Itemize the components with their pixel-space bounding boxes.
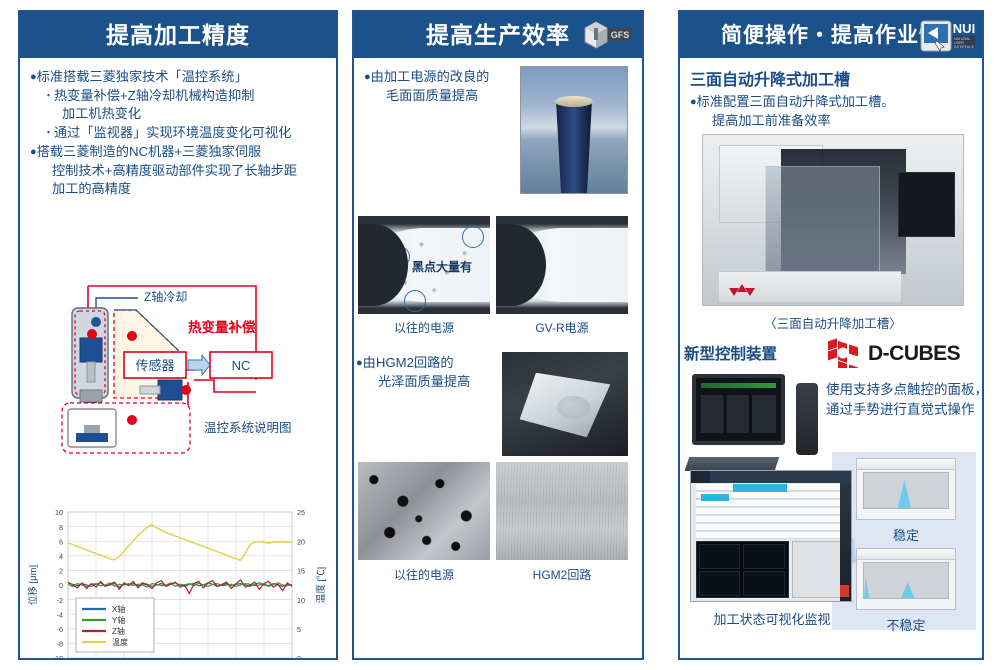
list-item-label: 提高加工前准备效率 <box>712 113 831 128</box>
panel-3-subheading: 三面自动升降式加工槽 <box>690 66 972 90</box>
hmi-camera-quadrant <box>699 571 741 596</box>
console-keyboard[interactable] <box>685 457 779 471</box>
nui-logo-badge: NUI NATURAL USER INTERFACE <box>920 17 976 55</box>
svg-text:25: 25 <box>297 508 305 517</box>
list-item: ●标准搭载三菱独家技术「温控系统」 <box>30 68 326 87</box>
hmi-parameter-rows <box>696 484 846 539</box>
svg-text:INTERFACE: INTERFACE <box>954 45 975 49</box>
svg-text:-8: -8 <box>57 640 63 649</box>
histogram-unstable-bars <box>864 563 948 598</box>
defect-circle-icon <box>462 226 484 248</box>
list-item-label: 由加工电源的改良的 <box>371 69 490 84</box>
bullet-dot-icon: ● <box>690 96 697 108</box>
defect-circle-icon <box>388 246 410 268</box>
hmi-highlight-bar <box>701 494 730 501</box>
d-cubes-wordmark: D-CUBES <box>868 342 960 366</box>
list-item-label: 标准搭载三菱独家技术「温控系统」 <box>37 69 248 84</box>
histogram-unstable-titlebar <box>857 549 955 560</box>
panel-3-body: 三面自动升降式加工槽 ●标准配置三面自动升降式加工槽。 提高加工前准备效率 〈三… <box>680 58 982 658</box>
d-cubes-logo <box>826 334 862 373</box>
svg-text:15: 15 <box>297 567 305 576</box>
bullet-dash-icon: ・ <box>43 90 54 102</box>
console-screen-tiles <box>701 395 775 434</box>
machine-monitor <box>898 172 955 237</box>
console-screen[interactable] <box>692 374 784 445</box>
svg-text:10: 10 <box>297 596 305 605</box>
rod-shape <box>556 100 592 193</box>
photo-hmi-monitor <box>690 470 852 602</box>
console-pendant[interactable] <box>796 383 818 456</box>
svg-text:0: 0 <box>297 654 301 658</box>
panel-easy-operation: 简便操作・提高作业性 NUI NATURAL USER INTERFACE <box>678 10 984 660</box>
panel-1-title: 提高加工精度 <box>106 24 250 47</box>
defect-circle-icon <box>404 290 426 312</box>
list-item-label: 热变量补偿+Z轴冷却机械构造抑制 <box>54 88 254 103</box>
hmi-highlight-bar <box>733 484 787 492</box>
svg-text:-6: -6 <box>57 625 63 634</box>
bullet-dot-icon: ● <box>356 357 363 369</box>
surface-lobe <box>501 228 628 302</box>
wedge-dimple-shape <box>557 396 590 419</box>
diagram-nc-label: NC <box>232 358 251 373</box>
caption-conventional-supply-1: 以往的电源 <box>358 319 490 336</box>
photo-control-console <box>684 368 824 472</box>
svg-text:温度: 温度 <box>112 637 128 647</box>
list-item: 控制技术+高精度驱动部件实现了长轴步距 <box>30 162 326 181</box>
histogram-stable-titlebar <box>857 459 955 470</box>
caption-hgm2-circuit: HGM2回路 <box>496 566 628 583</box>
list-item: ・通过「监视器」实现环境温度变化可视化 <box>30 124 326 143</box>
list-item-label: 控制技术+高精度驱动部件实现了长轴步距 <box>52 163 297 178</box>
histogram-unstable <box>856 548 956 610</box>
caption-unstable: 不稳定 <box>856 615 956 634</box>
svg-text:8: 8 <box>59 523 63 532</box>
poster-root: 提高加工精度 ●标准搭载三菱独家技术「温控系统」 ・热变量补偿+Z轴冷却机械构造… <box>0 0 1000 670</box>
mitsubishi-logo-icon <box>729 283 755 297</box>
svg-text:0: 0 <box>59 581 63 590</box>
diagram-caption-label: 温控系统说明图 <box>204 420 292 435</box>
caption-stable: 稳定 <box>856 525 956 544</box>
svg-text:位移 [μm]: 位移 [μm] <box>27 565 39 605</box>
photo-three-side-auto-tank <box>702 134 964 306</box>
svg-text:4: 4 <box>59 552 63 561</box>
panel-improve-productivity: 提高生产效率 GFS ●由加工电源的改良的 毛面面质量提高 <box>352 10 644 660</box>
controller-description-line: 通过手势进行直觉式操作 <box>826 400 982 420</box>
svg-text:温度 [℃]: 温度 [℃] <box>315 567 327 603</box>
histogram-unstable-plot <box>863 562 949 599</box>
list-item-label: 加工机热变化 <box>62 106 141 121</box>
list-item: 提高加工前准备效率 <box>690 112 972 131</box>
caption-conventional-supply-2: 以往的电源 <box>358 566 490 583</box>
caption-monitoring: 加工状态可视化监视 <box>684 609 860 628</box>
list-item: 光泽面质量提高 <box>356 373 470 392</box>
controller-heading: 新型控制装置 <box>684 342 777 364</box>
caption-machine: 〈三面自动升降加工槽〉 <box>690 313 976 332</box>
controller-description: 使用支持多点触控的面板， 通过手势进行直觉式操作 <box>826 380 982 421</box>
svg-text:-2: -2 <box>57 596 63 605</box>
list-item: 加工机热变化 <box>30 105 326 124</box>
photo-hgm2-texture <box>496 462 628 560</box>
panel-2-body: ●由加工电源的改良的 毛面面质量提高 黑点大量有 以往的电源 GV-R电源 <box>354 58 642 658</box>
svg-text:-4: -4 <box>57 610 63 619</box>
bullet-dot-icon: ● <box>364 71 371 83</box>
hmi-status-pane <box>792 541 846 598</box>
panel-2-header: 提高生产效率 GFS <box>354 12 642 58</box>
svg-text:2: 2 <box>59 567 63 576</box>
photo-gvr-supply-surface <box>496 216 628 314</box>
bullet-dash-icon: ・ <box>43 127 54 139</box>
hmi-sidebar[interactable] <box>840 483 851 601</box>
svg-text:-10: -10 <box>53 654 63 658</box>
controller-description-line: 使用支持多点触控的面板， <box>826 380 982 400</box>
thermal-control-diagram: 传感器 NC Z轴冷却 <box>28 270 328 460</box>
diagram-zcooling-label: Z轴冷却 <box>144 289 187 304</box>
svg-text:GFS: GFS <box>611 30 630 40</box>
bullet-dot-icon: ● <box>30 146 37 158</box>
svg-text:6: 6 <box>59 537 63 546</box>
panel-3-header: 简便操作・提高作业性 NUI NATURAL USER INTERFACE <box>680 12 982 58</box>
histogram-stable <box>856 458 956 520</box>
list-item: ●搭载三菱制造的NC机器+三菱独家伺服 <box>30 143 326 162</box>
list-item-label: 光泽面质量提高 <box>378 374 470 389</box>
list-item-label: 通过「监视器」实现环境温度变化可视化 <box>54 125 291 140</box>
thermal-drift-chart: -10-8-6-4-202468100510152025位移 [μm]温度 [℃… <box>24 498 332 658</box>
list-item-label: 标准配置三面自动升降式加工槽。 <box>697 94 895 109</box>
machine-tank-glass <box>765 166 879 278</box>
panel-2-bullet-list-mid: ●由HGM2回路的 光泽面质量提高 <box>356 354 470 391</box>
d-cubes-cube-icon <box>826 334 862 368</box>
diagram-sensor-label: 传感器 <box>135 358 174 373</box>
hmi-camera-quadrant <box>743 571 785 596</box>
list-item: ●由HGM2回路的 <box>356 354 470 373</box>
photo-conventional-supply-surface: 黑点大量有 <box>358 216 490 314</box>
bullet-dot-icon: ● <box>30 71 37 83</box>
panel-1-header: 提高加工精度 <box>20 12 336 58</box>
panel-2-title: 提高生产效率 <box>426 24 570 47</box>
list-item-label: 加工的高精度 <box>52 181 131 196</box>
list-item-label: 毛面面质量提高 <box>386 88 478 103</box>
svg-text:20: 20 <box>297 537 305 546</box>
photo-glossy-wedge-part <box>502 352 628 456</box>
list-item: 加工的高精度 <box>30 180 326 199</box>
list-item-label: 搭载三菱制造的NC机器+三菱独家伺服 <box>37 144 262 159</box>
thermal-diagram-svg: 传感器 NC Z轴冷却 <box>28 270 328 460</box>
panel-3-bullet-list: ●标准配置三面自动升降式加工槽。 提高加工前准备效率 <box>690 93 972 130</box>
panel-1-body: ●标准搭载三菱独家技术「温控系统」 ・热变量补偿+Z轴冷却机械构造抑制 加工机热… <box>20 58 336 658</box>
svg-text:X轴: X轴 <box>112 604 125 614</box>
diagram-thermal-comp-label: 热变量补偿 <box>188 319 256 335</box>
panel-3-title: 简便操作・提高作业性 <box>721 25 941 46</box>
black-dots-note: 黑点大量有 <box>412 258 472 275</box>
panel-1-bullet-list: ●标准搭载三菱独家技术「温控系统」 ・热变量补偿+Z轴冷却机械构造抑制 加工机热… <box>30 68 326 199</box>
hmi-titlebar <box>691 471 851 483</box>
list-item-label: 由HGM2回路的 <box>363 355 454 370</box>
svg-text:NUI: NUI <box>953 21 975 36</box>
photo-conventional-supply-texture <box>358 462 490 560</box>
svg-text:Z轴: Z轴 <box>112 626 125 636</box>
caption-gvr-supply: GV-R电源 <box>496 319 628 336</box>
gf-logo-badge: GFS <box>582 19 634 51</box>
histogram-stable-bars <box>864 473 948 508</box>
hmi-camera-view <box>696 541 789 598</box>
hmi-camera-quadrant <box>699 544 741 569</box>
hmi-camera-quadrant <box>743 544 785 569</box>
svg-text:Y轴: Y轴 <box>112 615 125 625</box>
hmi-stop-button[interactable] <box>840 585 850 597</box>
svg-text:5: 5 <box>297 625 301 634</box>
photo-machined-rod <box>520 66 628 194</box>
svg-text:10: 10 <box>55 508 63 517</box>
list-item: ・热变量补偿+Z轴冷却机械构造抑制 <box>30 87 326 106</box>
panel-improve-machining-accuracy: 提高加工精度 ●标准搭载三菱独家技术「温控系统」 ・热变量补偿+Z轴冷却机械构造… <box>18 10 338 660</box>
chart-svg: -10-8-6-4-202468100510152025位移 [μm]温度 [℃… <box>24 498 332 658</box>
histogram-stable-plot <box>863 472 949 509</box>
list-item: ●标准配置三面自动升降式加工槽。 <box>690 93 972 112</box>
